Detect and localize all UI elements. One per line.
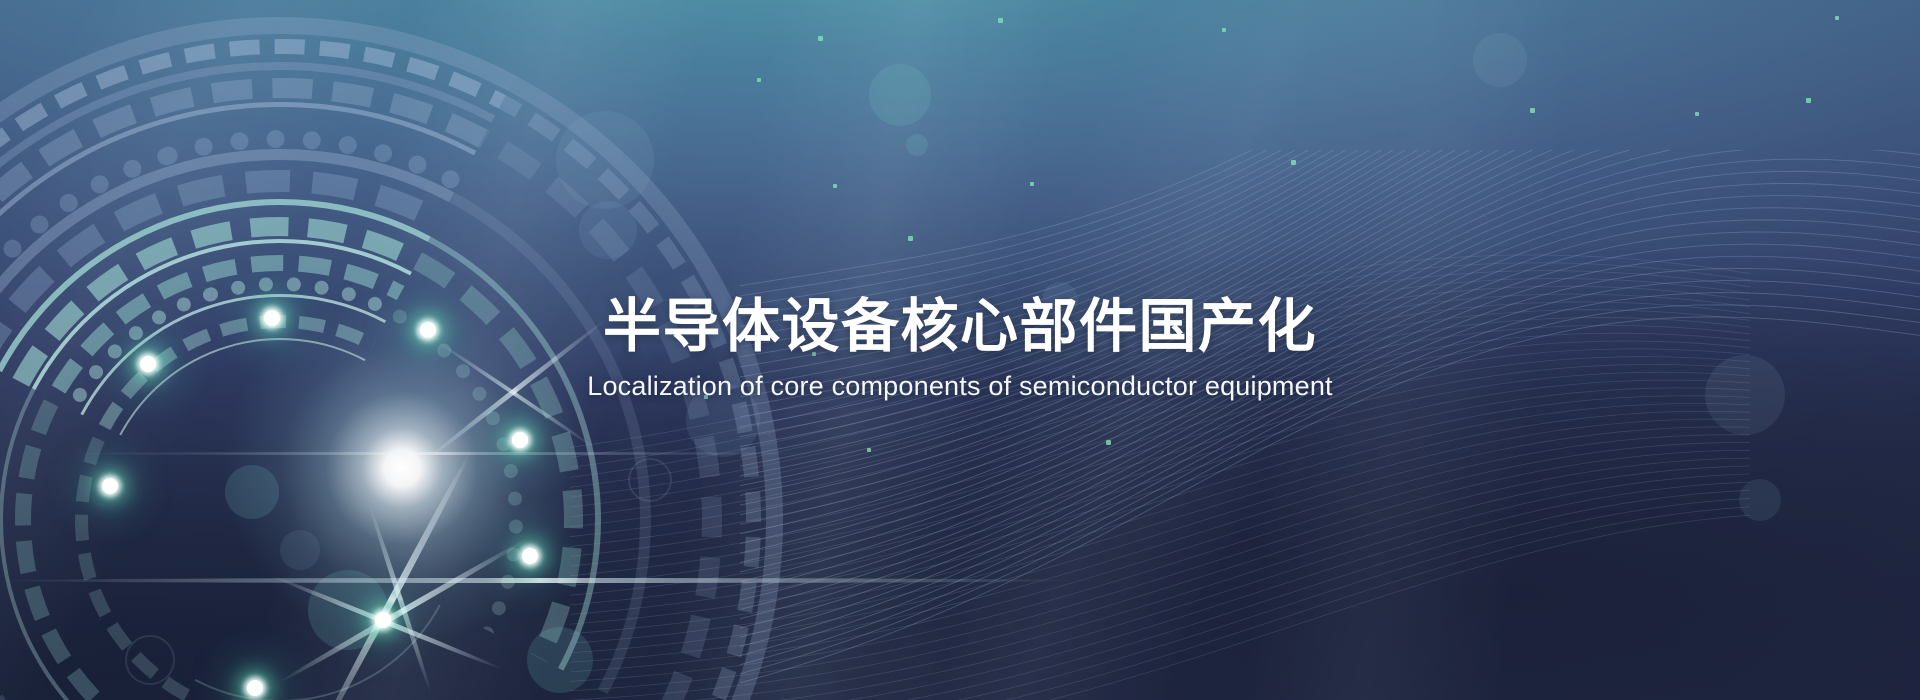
particle-dot	[1530, 108, 1535, 113]
bokeh-circle	[869, 64, 931, 126]
particle-dot	[818, 36, 823, 41]
particle-dot	[1806, 98, 1811, 103]
particle-dot	[1222, 28, 1226, 32]
page-subtitle: Localization of core components of semic…	[0, 371, 1920, 402]
page-title: 半导体设备核心部件国产化	[0, 296, 1920, 357]
hero-banner: 半导体设备核心部件国产化 Localization of core compon…	[0, 0, 1920, 700]
hero-text-block: 半导体设备核心部件国产化 Localization of core compon…	[0, 296, 1920, 402]
particle-dot	[1835, 16, 1839, 20]
particle-dot	[1695, 112, 1699, 116]
particle-dot	[757, 78, 761, 82]
particle-dot	[998, 18, 1003, 23]
bokeh-circle	[1473, 33, 1527, 87]
